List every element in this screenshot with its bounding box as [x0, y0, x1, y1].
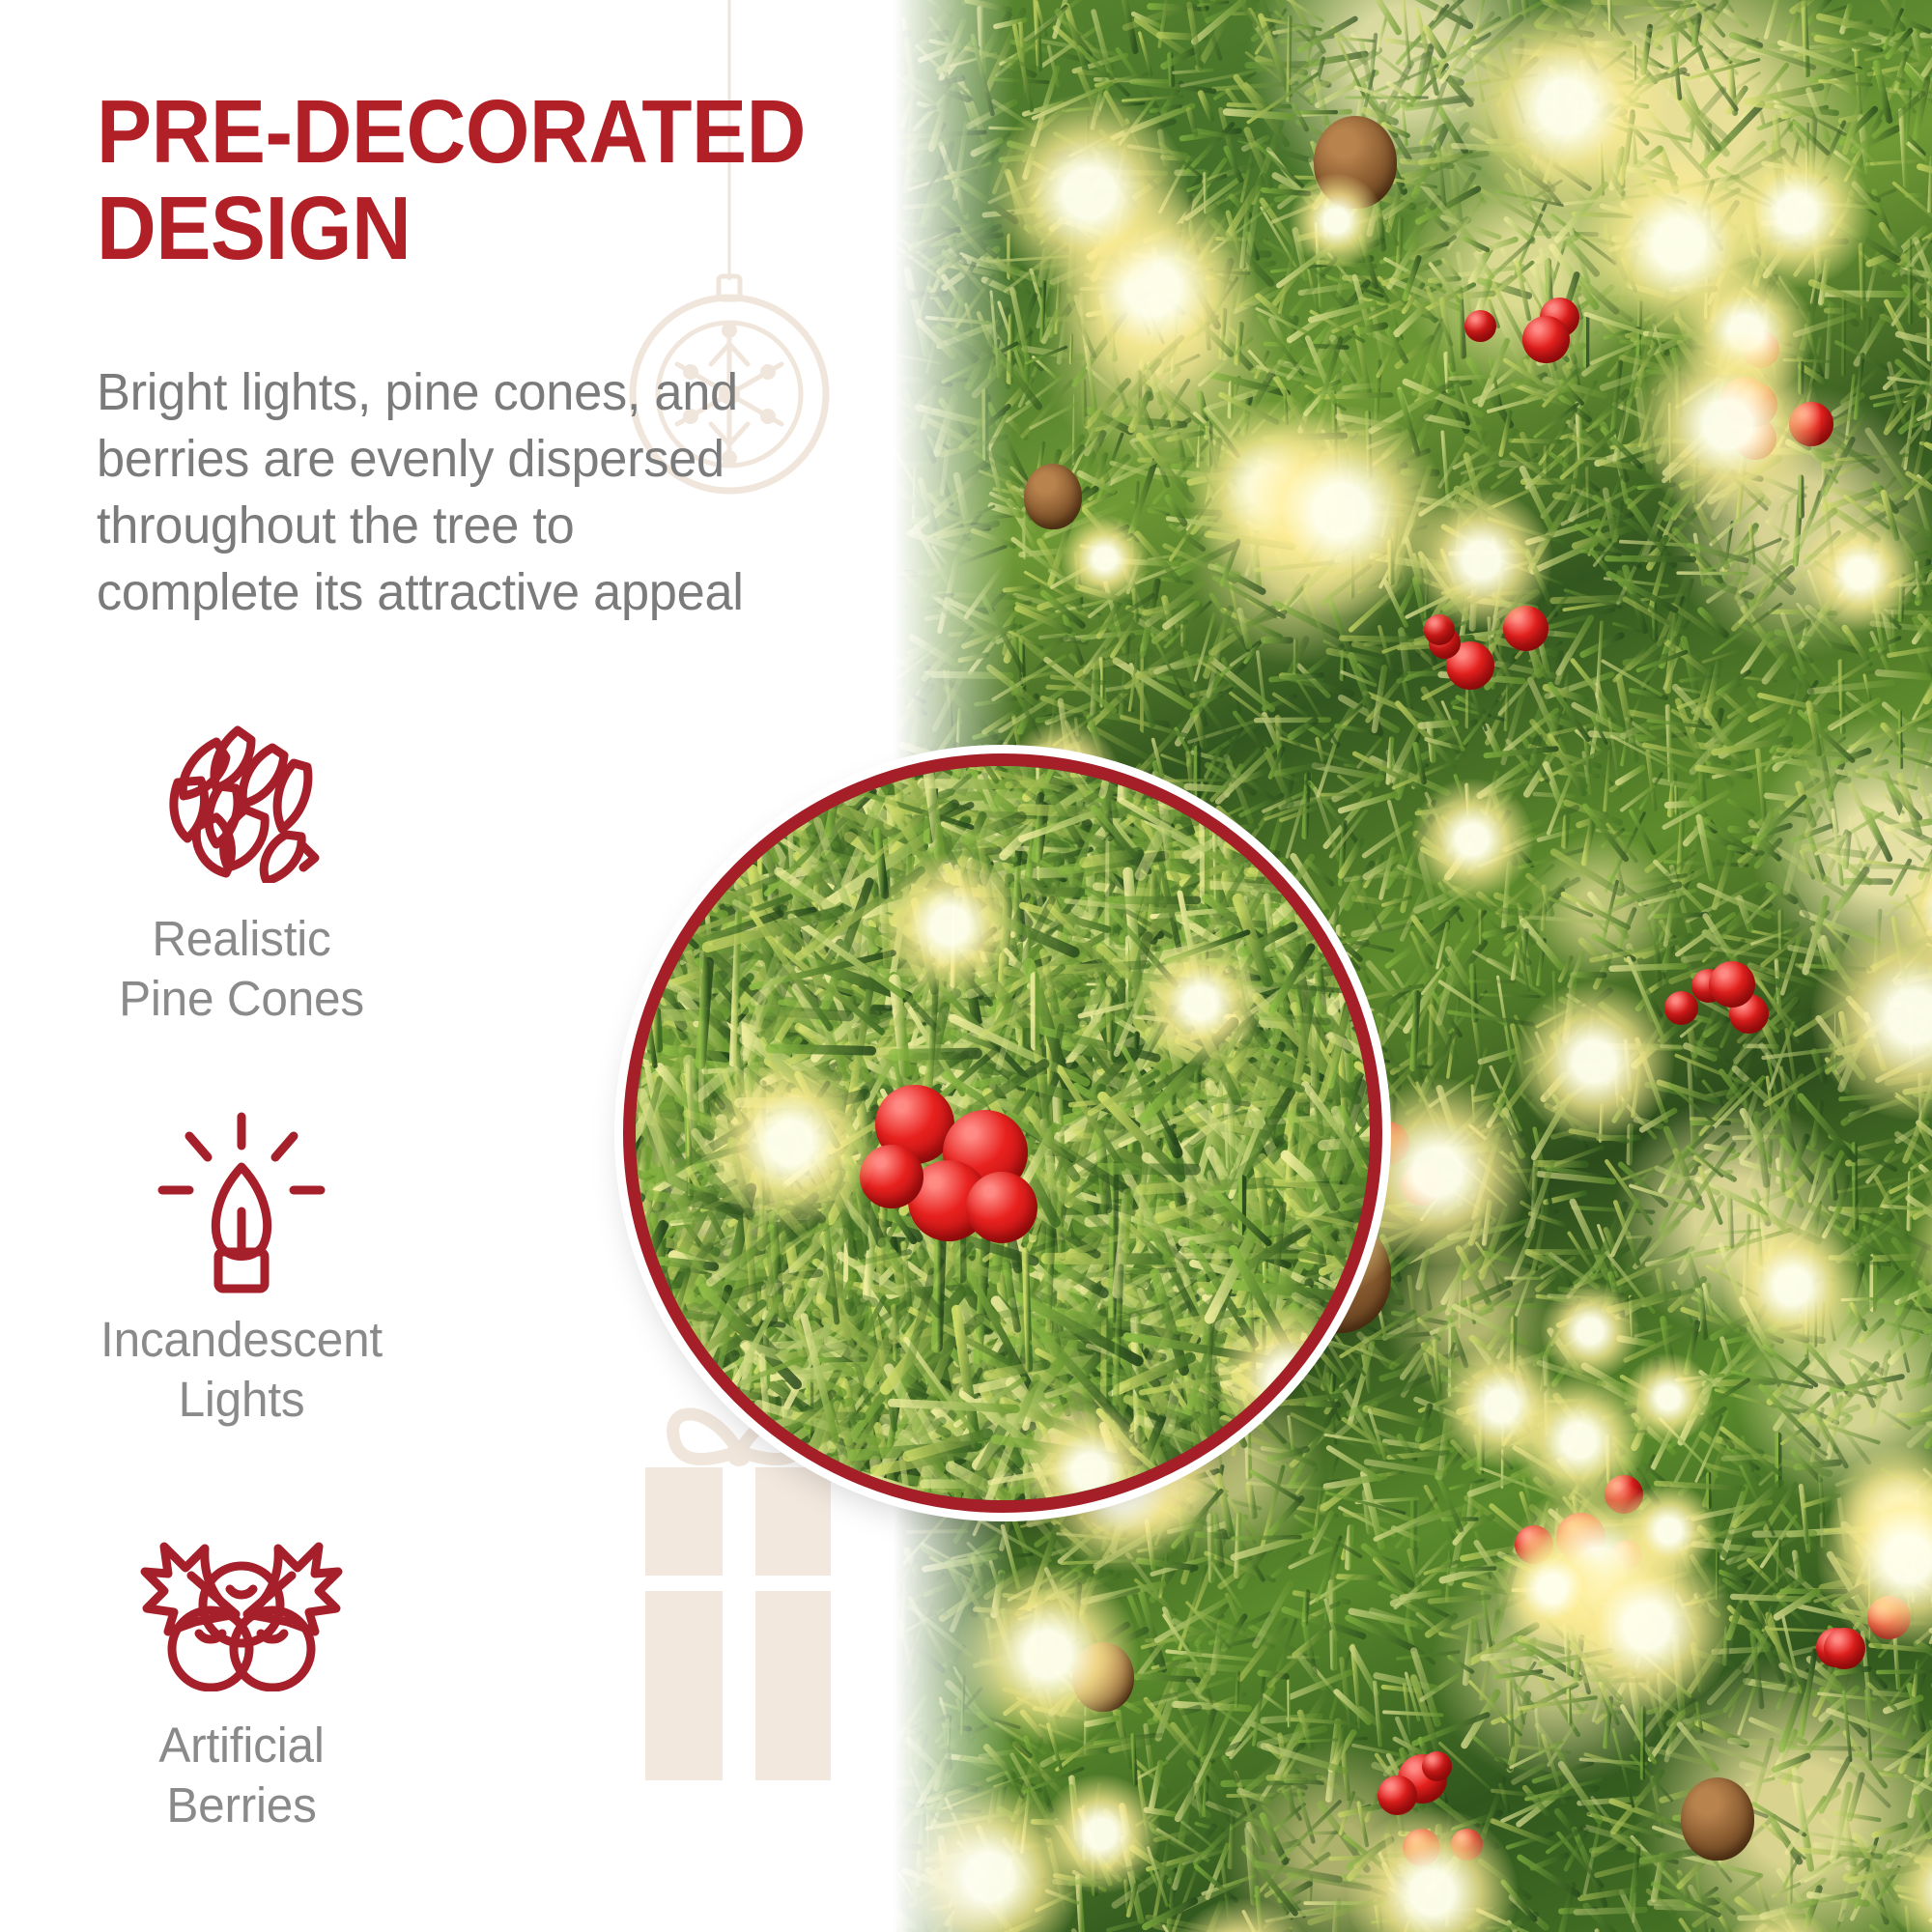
light-bulb-glow — [1514, 981, 1674, 1142]
light-bulb-glow — [703, 1056, 877, 1230]
light-bulb-glow — [1722, 1216, 1862, 1356]
light-bulb-glow — [1215, 1307, 1360, 1452]
page-description: Bright lights, pine cones, and berries a… — [97, 359, 922, 626]
light-bulb-glow — [1411, 779, 1533, 900]
detail-magnifier-callout — [623, 753, 1382, 1513]
feature-label: Incandescent Lights — [44, 1310, 438, 1430]
berry — [1522, 316, 1570, 363]
light-bulb-glow — [1803, 517, 1917, 631]
berry — [966, 1172, 1037, 1243]
incandescent-bulb-icon — [155, 1111, 328, 1294]
light-bulb-glow — [1621, 1483, 1717, 1578]
light-bulb-glow — [1138, 940, 1264, 1065]
feature-label: Artificial Berries — [44, 1716, 438, 1835]
pine-cone — [1681, 1777, 1754, 1861]
infographic-canvas: PRE-DECORATED DESIGN Bright lights, pine… — [0, 0, 1932, 1932]
feature-item-artificial-berries: Artificial Berries — [39, 1517, 444, 1835]
feature-label: Realistic Pine Cones — [44, 909, 438, 1029]
light-bulb-glow — [1513, 1375, 1645, 1507]
berry — [1664, 991, 1698, 1025]
berry — [1422, 1751, 1452, 1781]
feature-item-pine-cones: Realistic Pine Cones — [39, 710, 444, 1029]
berry — [1464, 310, 1496, 342]
holly-berries-icon — [135, 1525, 348, 1691]
light-bulb-glow — [1290, 174, 1383, 268]
light-bulb-glow — [1061, 515, 1149, 603]
page-title: PRE-DECORATED DESIGN — [97, 83, 896, 276]
light-bulb-glow — [877, 853, 1022, 998]
light-bulb-glow — [1236, 406, 1446, 616]
berry — [1709, 961, 1755, 1008]
pine-cone-icon — [145, 721, 338, 883]
light-bulb-glow — [1634, 331, 1821, 518]
light-bulb-glow — [1541, 1282, 1639, 1380]
feature-item-incandescent-lights: Incandescent Lights — [39, 1111, 444, 1430]
